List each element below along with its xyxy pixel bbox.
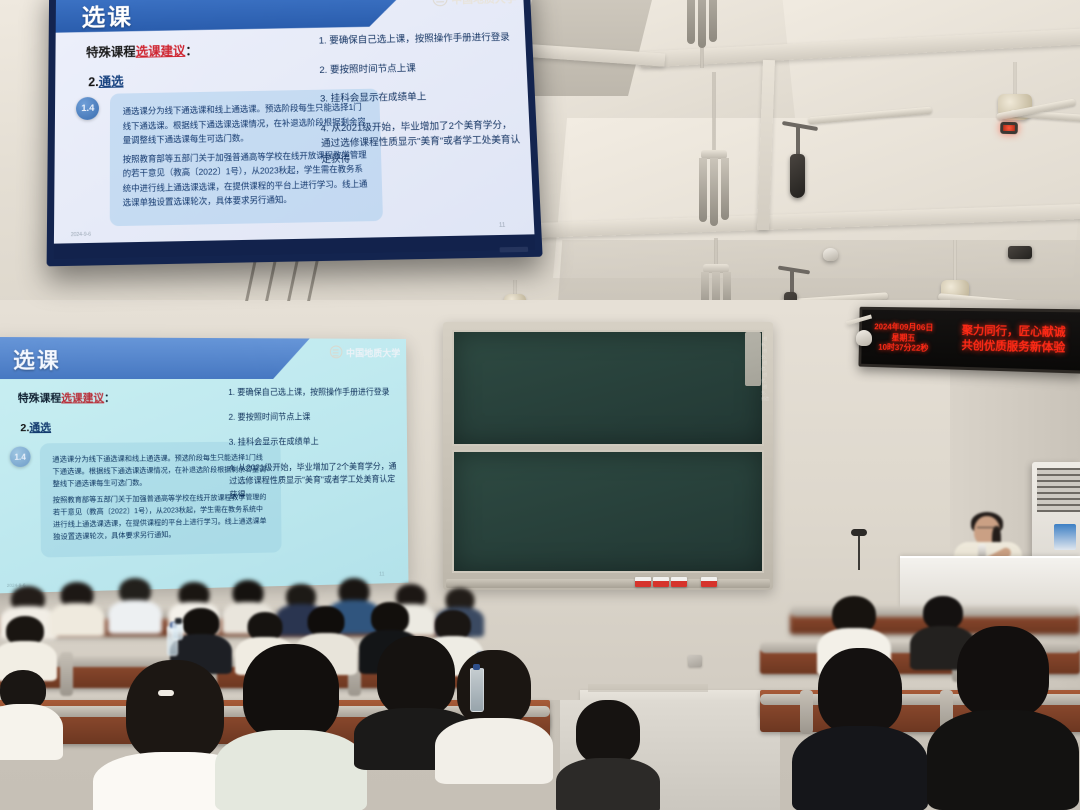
section-number: 2. — [20, 422, 29, 434]
water-bottle — [172, 622, 183, 640]
university-seal-icon — [432, 0, 447, 7]
lecture-hall-photo: 选课 中国地质大学 特殊课程选课建议： 2.通选 1.4 通选课分为 — [0, 0, 1080, 810]
chalk-ledge — [446, 579, 770, 588]
student-foreground — [560, 700, 656, 810]
slide-body: 特殊课程选课建议： 2.通选 1.4 通选课分为线下通选课和线上通选课。预选阶段… — [0, 379, 408, 593]
ceiling-lamp-1 — [672, 0, 732, 80]
list-item: 2. 要按照时间节点上课 — [319, 59, 517, 78]
projection-screen: 选课 中国地质大学 特殊课程选课建议： 2.通选 1.4 通选课分为线下通选课和… — [0, 337, 408, 594]
student — [48, 582, 106, 632]
subheading-colon: ： — [104, 392, 115, 404]
slide-title: 选课 — [13, 344, 61, 375]
list-item: 1. 要确保自己选上课，按照操作手册进行登录 — [319, 30, 517, 49]
ac-control-panel[interactable] — [1054, 524, 1076, 550]
slide-bullet-list: 1. 要确保自己选上课，按照操作手册进行登录 2. 要按照时间节点上课 3. 挂… — [319, 30, 523, 182]
chalk-box — [635, 577, 651, 587]
ac-vent-grill — [1037, 468, 1080, 512]
slide-badge: 1.4 — [76, 97, 99, 120]
university-name: 中国地质大学 — [346, 345, 400, 359]
led-date: 2024年09月06日 — [862, 322, 947, 334]
subheading-plain: 特殊课程 — [86, 45, 136, 60]
ceiling-speaker-3 — [1008, 246, 1044, 286]
led-slogan-line2: 共创优质服务新体验 — [946, 339, 1080, 357]
hair-tie — [158, 690, 174, 696]
student — [108, 578, 162, 630]
ceiling-fan-1 — [900, 62, 1080, 142]
chalk-box — [653, 577, 669, 587]
university-logo: 中国地质大学 — [330, 345, 401, 359]
led-time: 10时37分22秒 — [861, 342, 946, 354]
student-foreground — [0, 670, 60, 760]
slide-projection: 选课 中国地质大学 特殊课程选课建议： 2.通选 1.4 通选课分为线下通选课和… — [0, 337, 408, 594]
slide-header: 选课 中国地质大学 — [0, 337, 406, 379]
list-item: 1. 要确保自己选上课，按照操作手册进行登录 — [228, 385, 399, 399]
slide-section-heading: 2.通选 — [88, 71, 123, 90]
led-datetime: 2024年09月06日 星期五 10时37分22秒 — [861, 322, 946, 354]
slide-section-heading: 2.通选 — [20, 420, 51, 435]
chalk-box — [701, 577, 717, 587]
list-item: 3. 挂科会显示在成绩单上 — [229, 435, 400, 450]
overhead-tv-display: 选课 中国地质大学 特殊课程选课建议： 2.通选 1.4 通选课分为 — [47, 0, 543, 266]
slide-subheading: 特殊课程选课建议： — [18, 390, 115, 405]
subheading-colon: ： — [185, 44, 198, 58]
university-logo: 中国地质大学 — [432, 0, 516, 7]
university-seal-icon — [330, 346, 343, 359]
list-item: 2. 要按照时间节点上课 — [228, 410, 399, 424]
slide-title: 选课 — [81, 0, 132, 32]
student — [0, 616, 56, 674]
step-edge-shadow — [588, 684, 708, 692]
student-foreground — [936, 626, 1070, 810]
university-name: 中国地质大学 — [451, 0, 517, 7]
surveillance-camera-ceiling — [823, 248, 838, 261]
subheading-highlight: 选课建议 — [61, 392, 104, 404]
wall-bracket — [745, 332, 761, 386]
blackboard-frame: 创新、创业、创造、创优、创先、创造 — [443, 322, 773, 590]
surveillance-camera-wall — [856, 330, 872, 346]
slide-tv: 选课 中国地质大学 特殊课程选课建议： 2.通选 1.4 通选课分为 — [54, 0, 535, 244]
section-label: 通选 — [29, 422, 51, 434]
led-slogan: 聚力同行，匠心献诚 共创优质服务新体验 — [946, 324, 1080, 357]
section-number: 2. — [88, 75, 98, 89]
student-foreground — [226, 644, 356, 810]
ceiling-speaker-1 — [782, 124, 822, 214]
presenter-glasses — [977, 527, 997, 532]
list-item: 4. 从2021级开始，毕业增加了2个美育学分，通过选修课程性质显示"美育"或者… — [320, 117, 521, 167]
section-label: 通选 — [99, 75, 124, 89]
slide-badge: 1.4 — [10, 446, 31, 467]
slide-bullet-list: 1. 要确保自己选上课，按照操作手册进行登录 2. 要按照时间节点上课 3. 挂… — [228, 385, 400, 513]
subheading-plain: 特殊课程 — [18, 392, 62, 404]
slide-date-stamp: 2024-9-6 — [71, 231, 91, 238]
blackboard-lower — [452, 450, 764, 573]
desk-microphone — [858, 534, 860, 570]
tv-brand-logo — [500, 247, 529, 253]
tv-screen-content: 选课 中国地质大学 特殊课程选课建议： 2.通选 1.4 通选课分为 — [54, 0, 535, 244]
slide-body: 特殊课程选课建议： 2.通选 1.4 通选课分为线下通选课和线上通选课。预选阶段… — [54, 24, 535, 244]
student-foreground — [440, 650, 548, 780]
list-item: 4. 从2021级开始，毕业增加了2个美育学分，通过选修课程性质显示"美育"或者… — [229, 460, 400, 502]
water-bottle — [470, 668, 484, 712]
student-foreground — [800, 648, 920, 810]
list-item: 3. 挂科会显示在成绩单上 — [320, 88, 519, 107]
blackboard-side-text: 创新、创业、创造、创优、创先、创造 — [761, 336, 769, 566]
subheading-highlight: 选课建议 — [136, 44, 186, 59]
chalk-box — [671, 577, 687, 587]
ceiling-lamp-2 — [690, 72, 738, 182]
slide-subheading: 特殊课程选课建议： — [86, 40, 198, 61]
wall-outlet — [688, 655, 702, 667]
led-display-sign: 2024年09月06日 星期五 10时37分22秒 聚力同行，匠心献诚 共创优质… — [858, 307, 1080, 374]
slide-page-number: 11 — [379, 571, 384, 577]
slide-page-number: 11 — [499, 222, 506, 228]
blackboard-upper — [452, 330, 764, 446]
